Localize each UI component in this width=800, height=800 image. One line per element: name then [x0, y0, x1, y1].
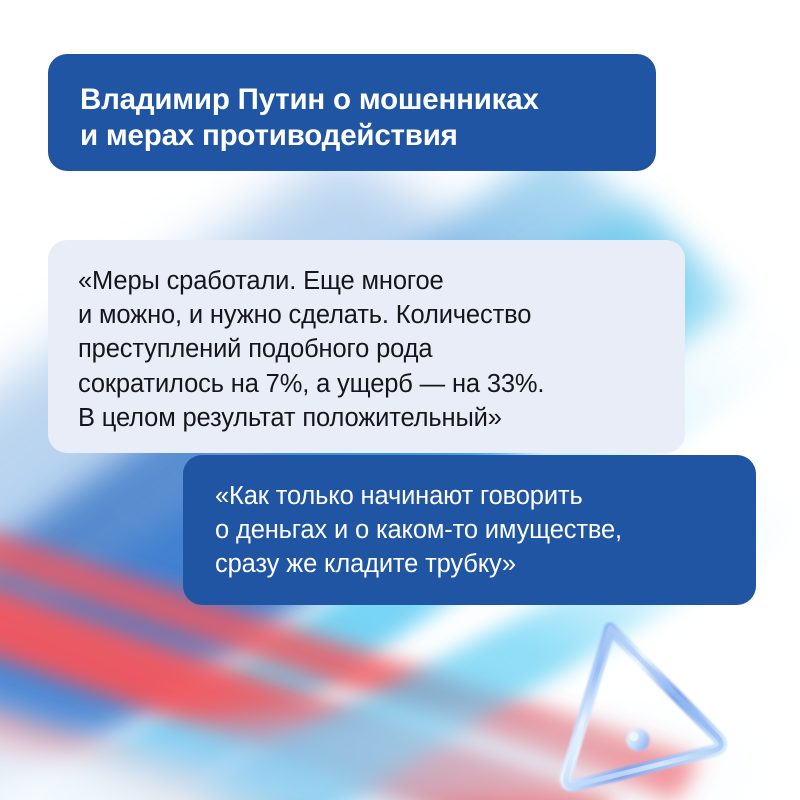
- title-banner: Владимир Путин о мошенниках и мерах прот…: [48, 54, 656, 171]
- warning-triangle-exclamation-icon: [500, 600, 750, 800]
- quote-card-secondary: «Как только начинают говорить о деньгах …: [183, 455, 756, 605]
- page-title: Владимир Путин о мошенниках и мерах прот…: [80, 82, 626, 154]
- poster-root: Владимир Путин о мошенниках и мерах прот…: [0, 0, 800, 800]
- quote-card-primary: «Меры сработали. Еще многое и можно, и н…: [48, 240, 685, 453]
- quote-text-secondary: «Как только начинают говорить о деньгах …: [215, 479, 730, 582]
- quote-text-primary: «Меры сработали. Еще многое и можно, и н…: [78, 264, 659, 435]
